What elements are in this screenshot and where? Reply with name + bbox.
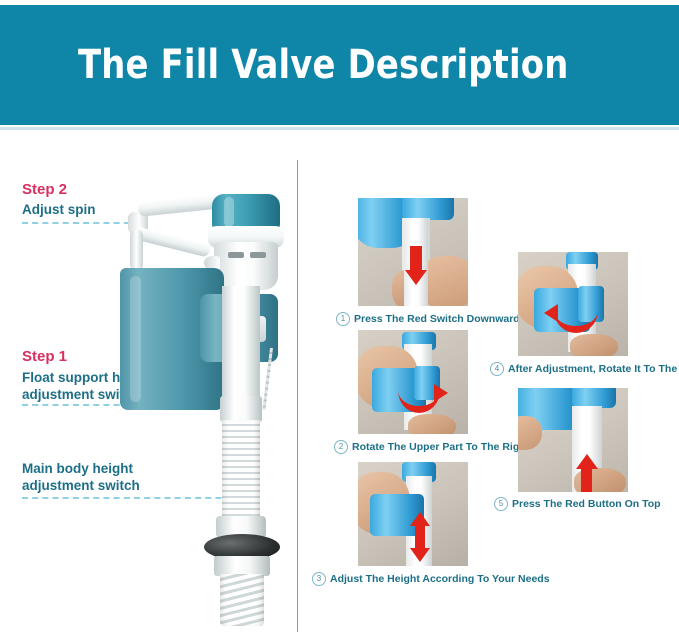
step-caption-3-text: Adjust The Height According To Your Need… — [330, 573, 550, 585]
step-photo-2 — [358, 330, 468, 434]
float-arm-rod — [137, 193, 222, 217]
down-arrow-head-photo3 — [410, 548, 430, 562]
step-photo-3 — [358, 462, 468, 566]
step-caption-4: 4 After Adjustment, Rotate It To The Lef… — [490, 362, 679, 376]
valve-shaft-mid — [220, 396, 262, 422]
step-photo-4 — [518, 252, 628, 356]
page-title: The Fill Valve Description — [78, 42, 569, 88]
float-body-highlight — [130, 276, 141, 402]
header-banner: The Fill Valve Description — [0, 5, 679, 125]
step-number-2: 2 — [334, 440, 348, 454]
valve-cap-photo1-right — [402, 198, 454, 220]
step-photo-1 — [358, 198, 468, 306]
callout-step2-description: Adjust spin — [22, 201, 96, 218]
up-arrow-shaft-photo5 — [581, 468, 592, 492]
hand-lower-photo2 — [408, 414, 456, 434]
step-caption-5-text: Press The Red Button On Top — [512, 498, 661, 510]
step-caption-3: 3 Adjust The Height According To Your Ne… — [312, 572, 550, 586]
up-down-arrow-shaft-photo3 — [415, 524, 425, 550]
valve-shaft-upper — [222, 286, 260, 398]
down-arrow-icon-photo1 — [410, 246, 422, 272]
step-caption-1: 1 Press The Red Switch Downward — [336, 312, 520, 326]
callout-step1-title: Step 1 — [22, 348, 67, 366]
step-caption-4-text: After Adjustment, Rotate It To The Left — [508, 363, 679, 375]
step-caption-2-text: Rotate The Upper Part To The Right — [352, 441, 529, 453]
valve-vent-slot-right — [250, 252, 266, 258]
callout-mainbody-description-line1: Main body height — [22, 460, 133, 477]
step-caption-1-text: Press The Red Switch Downward — [354, 313, 520, 325]
curved-left-arrow-head-photo4 — [544, 304, 558, 322]
down-arrow-head-photo1 — [405, 270, 427, 285]
step-number-5: 5 — [494, 497, 508, 511]
valve-top-cap — [212, 194, 280, 230]
step-caption-5: 5 Press The Red Button On Top — [494, 497, 661, 511]
curved-right-arrow-head-photo2 — [434, 384, 448, 402]
hand-lower-photo4 — [570, 334, 618, 356]
valve-shaft-ribbed — [222, 420, 260, 520]
infographic-page: The Fill Valve Description Step 2 Adjust… — [0, 0, 679, 644]
threaded-shank-top — [214, 556, 270, 576]
float-arm-lower-rod — [132, 226, 211, 257]
step-photo-5 — [518, 388, 628, 492]
threaded-shank — [220, 574, 264, 626]
step-number-1: 1 — [336, 312, 350, 326]
valve-cap-photo5-right — [572, 388, 616, 408]
up-arrow-head-photo5 — [576, 454, 598, 469]
float-arm-stem — [130, 230, 143, 270]
valve-vent-slot-left — [228, 252, 244, 258]
step-number-4: 4 — [490, 362, 504, 376]
callout-step2-title: Step 2 — [22, 181, 67, 199]
step-caption-2: 2 Rotate The Upper Part To The Right — [334, 440, 529, 454]
fill-valve-illustration — [120, 190, 295, 610]
step-number-3: 3 — [312, 572, 326, 586]
panel-divider — [297, 160, 298, 632]
header-underline — [0, 127, 679, 130]
valve-cap-highlight — [224, 197, 234, 227]
